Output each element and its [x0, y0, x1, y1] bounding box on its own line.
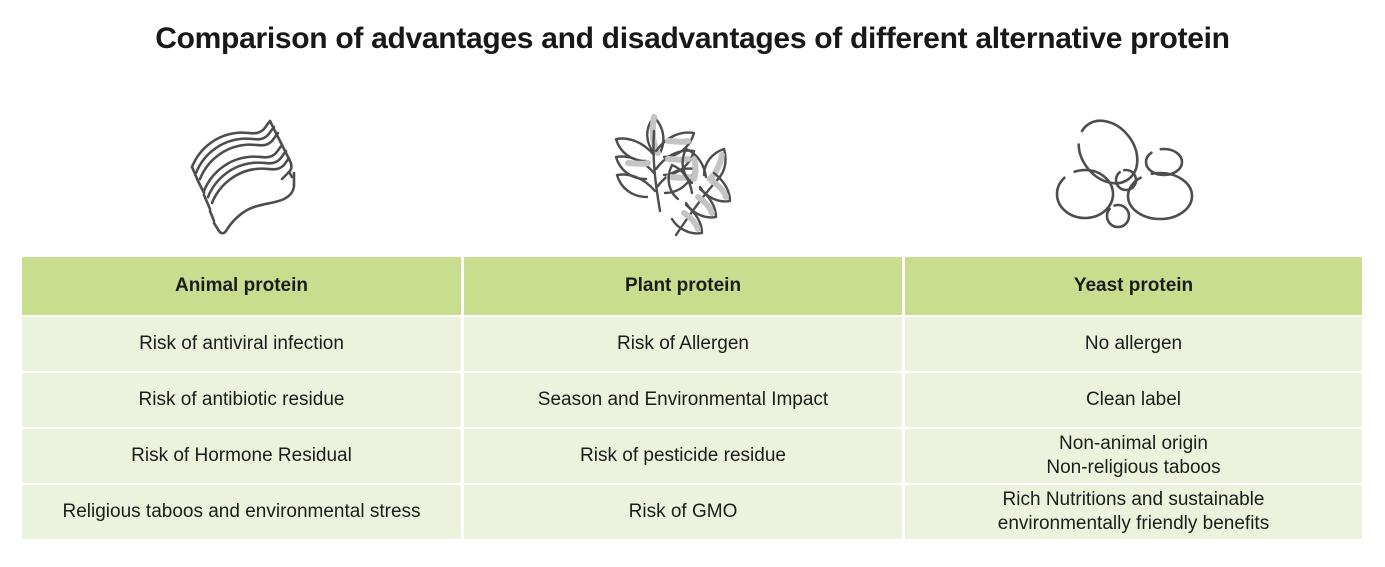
comparison-table: Animal protein Plant protein Yeast prote…: [19, 255, 1365, 541]
table-row: Religious taboos and environmental stres…: [22, 485, 1362, 539]
cell-plant-1: Risk of Allergen: [464, 317, 902, 371]
column-header-plant-protein: Plant protein: [464, 257, 902, 315]
icon-row: [19, 104, 1356, 244]
cell-yeast-4: Rich Nutritions and sustainable environm…: [905, 485, 1362, 539]
cell-yeast-1: No allergen: [905, 317, 1362, 371]
cell-plant-4: Risk of GMO: [464, 485, 902, 539]
table-row: Risk of antiviral infection Risk of Alle…: [22, 317, 1362, 371]
yeast-cells-icon: [896, 104, 1356, 244]
cell-animal-4: Religious taboos and environmental stres…: [22, 485, 461, 539]
cell-plant-3: Risk of pesticide residue: [464, 429, 902, 483]
table-header-row: Animal protein Plant protein Yeast prote…: [22, 257, 1362, 315]
table-row: Risk of Hormone Residual Risk of pestici…: [22, 429, 1362, 483]
column-header-animal-protein: Animal protein: [22, 257, 461, 315]
cell-animal-1: Risk of antiviral infection: [22, 317, 461, 371]
meat-slice-icon: [19, 104, 458, 244]
cell-animal-2: Risk of antibiotic residue: [22, 373, 461, 427]
cell-yeast-3: Non-animal origin Non-religious taboos: [905, 429, 1362, 483]
cell-animal-3: Risk of Hormone Residual: [22, 429, 461, 483]
cell-plant-2: Season and Environmental Impact: [464, 373, 902, 427]
table-row: Risk of antibiotic residue Season and En…: [22, 373, 1362, 427]
page-title: Comparison of advantages and disadvantag…: [0, 22, 1385, 56]
cell-yeast-2: Clean label: [905, 373, 1362, 427]
column-header-yeast-protein: Yeast protein: [905, 257, 1362, 315]
leaf-branches-icon: [458, 104, 896, 244]
